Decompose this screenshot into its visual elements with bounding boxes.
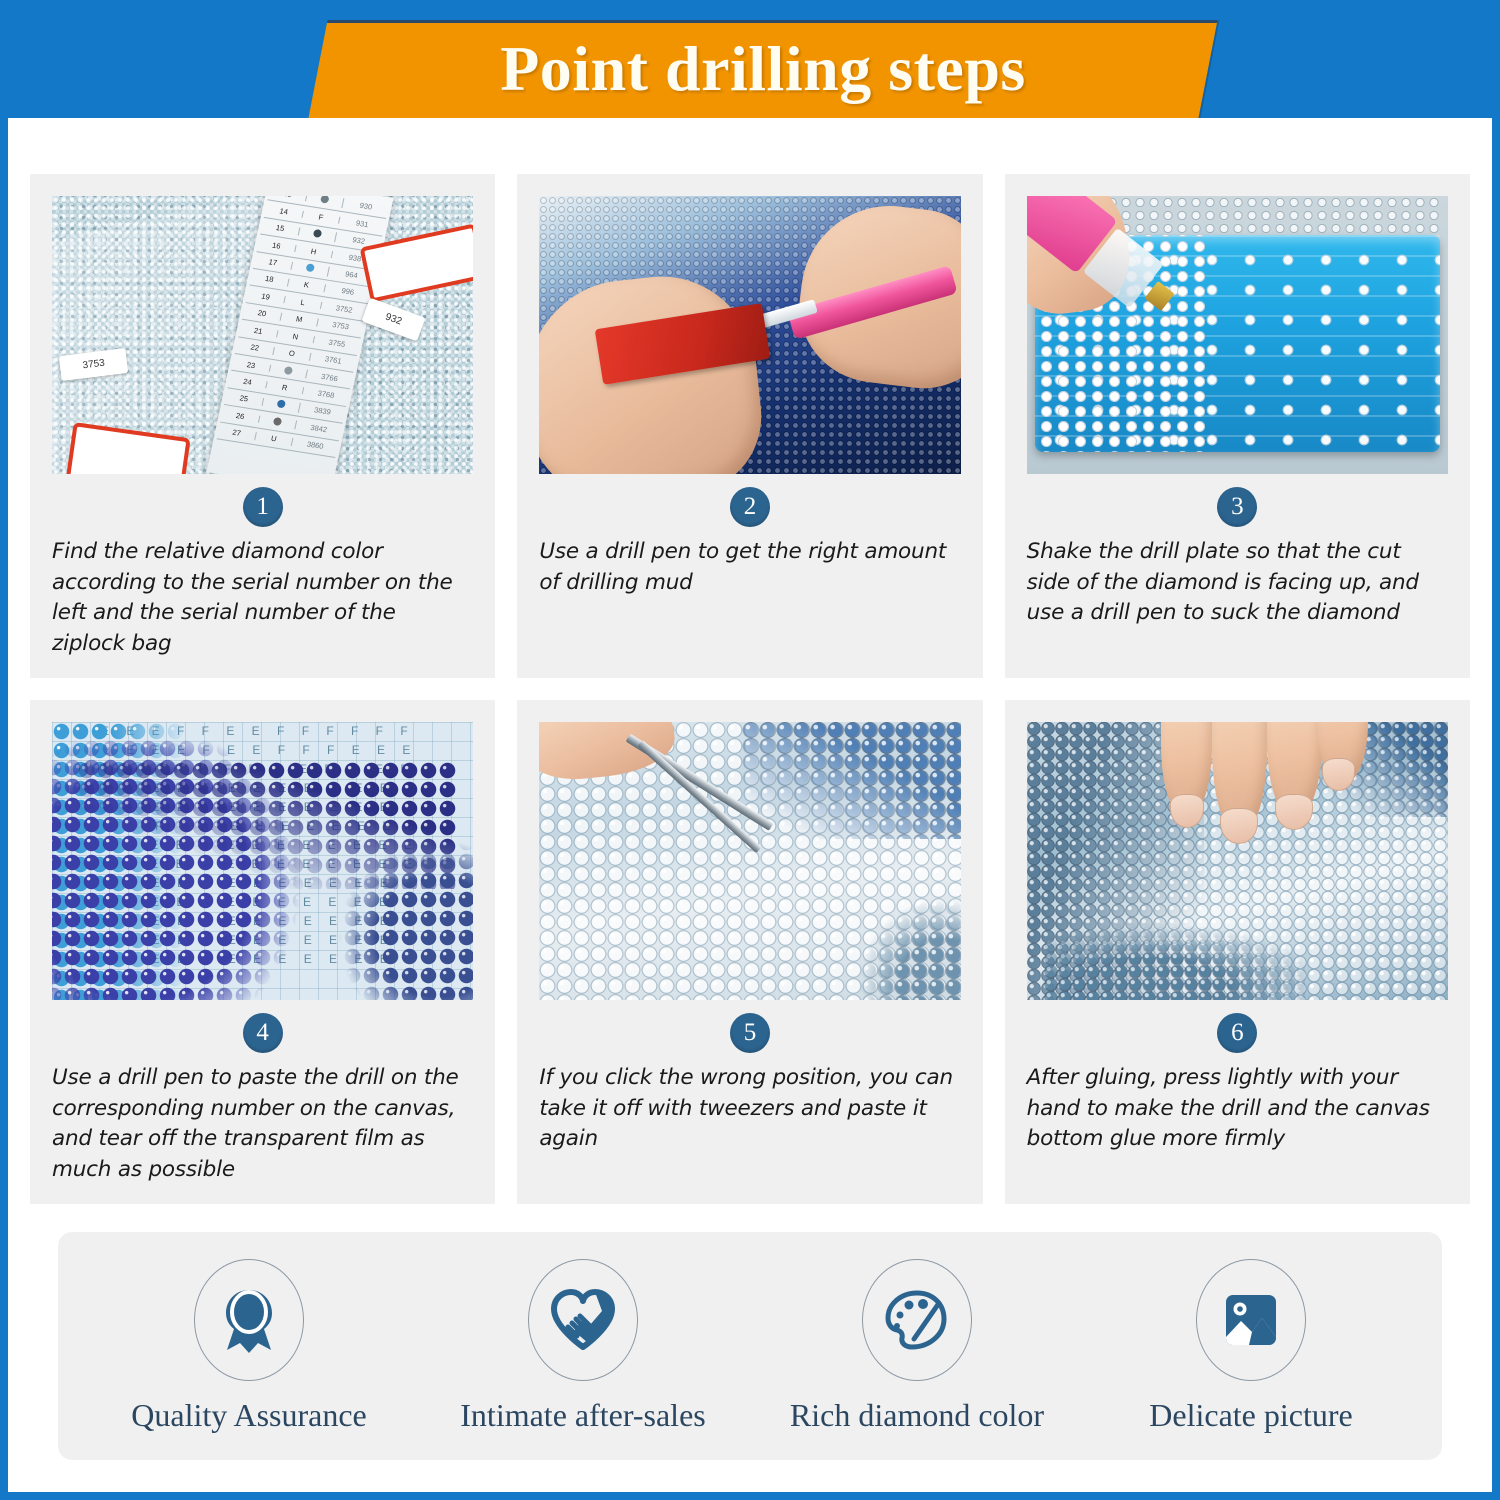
feature-rich-diamond-color: Rich diamond color [757,1259,1077,1434]
step-card-4: E E E E F F E E F F F F F F E E E E E F … [30,700,495,1204]
step-caption-3: Shake the drill plate so that the cut si… [1027,537,1448,629]
feature-icon-circle-3 [862,1259,972,1381]
step-card-3: 3 Shake the drill plate so that the cut … [1005,174,1470,678]
step-number-badge-1: 1 [243,487,283,527]
features-panel: Quality Assurance [58,1232,1442,1460]
blue-bead-patch [742,722,961,839]
step-card-1: 13930 14F931 15932 16H938 17964 18K996 1… [30,174,495,678]
paint-palette-icon [883,1289,951,1351]
right-drills-region [305,833,474,1000]
step-caption-2: Use a drill pen to get the right amount … [539,537,960,598]
step-number-badge-5: 5 [730,1013,770,1053]
feature-intimate-after-sales: Intimate after-sales [423,1259,743,1434]
feature-label-3: Rich diamond color [790,1397,1044,1434]
header-bar: Point drilling steps [0,0,1500,118]
step-number-badge-6: 6 [1217,1013,1257,1053]
feature-icon-circle-1 [194,1259,304,1381]
dark-bead-band-bottom [1044,900,1305,1000]
fingernail-1 [1170,794,1204,827]
step-4-photo: E E E E F F E E F F F F F F E E E E E F … [52,722,473,1000]
award-ribbon-icon [218,1287,280,1353]
step-6-photo [1027,722,1448,1000]
step-caption-6: After gluing, press lightly with your ha… [1027,1063,1448,1155]
steps-grid: 13930 14F931 15932 16H938 17964 18K996 1… [30,174,1470,1204]
step-card-2: 2 Use a drill pen to get the right amoun… [517,174,982,678]
feature-icon-circle-2 [528,1259,638,1381]
feature-label-1: Quality Assurance [131,1397,367,1434]
step-caption-5: If you click the wrong position, you can… [539,1063,960,1155]
step-number-badge-2: 2 [730,487,770,527]
step-1-photo: 13930 14F931 15932 16H938 17964 18K996 1… [52,196,473,474]
feature-label-4: Delicate picture [1149,1397,1352,1434]
step-card-6: 6 After gluing, press lightly with your … [1005,700,1470,1204]
step-2-photo [539,196,960,474]
step-card-5: 5 If you click the wrong position, you c… [517,700,982,1204]
content-sheet: 13930 14F931 15932 16H938 17964 18K996 1… [8,118,1492,1492]
feature-quality-assurance: Quality Assurance [89,1259,409,1434]
step-3-photo [1027,196,1448,474]
step-5-photo [539,722,960,1000]
step-number-badge-4: 4 [243,1013,283,1053]
feature-label-2: Intimate after-sales [460,1397,705,1434]
picture-icon [1221,1290,1281,1350]
feature-icon-circle-4 [1196,1259,1306,1381]
blue-bead-patch-2 [843,883,961,1000]
page-title: Point drilling steps [318,20,1208,118]
step-caption-4: Use a drill pen to paste the drill on th… [52,1063,473,1185]
handshake-heart-icon [550,1289,616,1351]
step-number-badge-3: 3 [1217,487,1257,527]
infographic-page: Point drilling steps 13930 14F931 15932 … [0,0,1500,1500]
feature-delicate-picture: Delicate picture [1091,1259,1411,1434]
step-caption-1: Find the relative diamond color accordin… [52,537,473,659]
